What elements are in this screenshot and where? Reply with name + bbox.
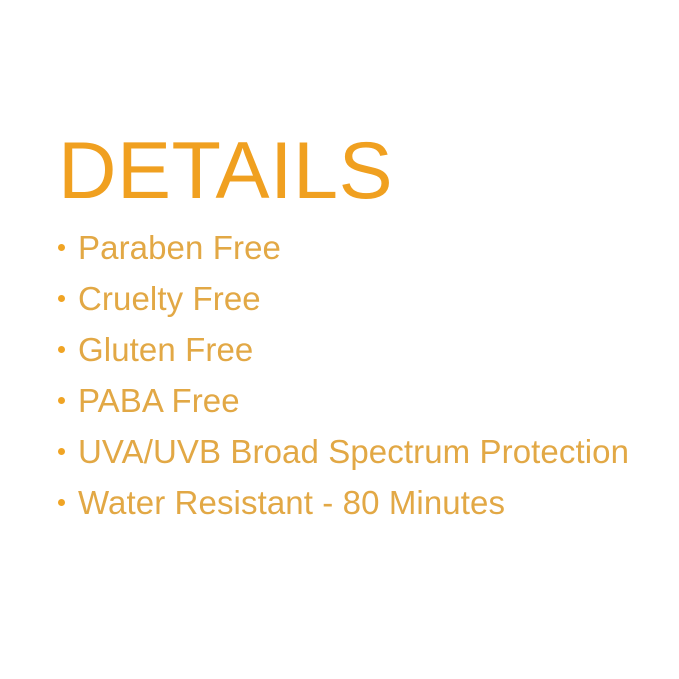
feature-label: Gluten Free: [78, 324, 253, 375]
list-item: PABA Free: [58, 375, 658, 426]
list-item: Cruelty Free: [58, 273, 658, 324]
list-item: Water Resistant - 80 Minutes: [58, 477, 658, 528]
feature-label: UVA/UVB Broad Spectrum Protection: [78, 426, 629, 477]
bullet-icon: [58, 295, 65, 302]
feature-label: PABA Free: [78, 375, 240, 426]
bullet-icon: [58, 448, 65, 455]
list-item: Gluten Free: [58, 324, 658, 375]
bullet-icon: [58, 244, 65, 251]
bullet-icon: [58, 397, 65, 404]
feature-list: Paraben Free Cruelty Free Gluten Free PA…: [58, 222, 658, 528]
bullet-icon: [58, 346, 65, 353]
page-title: DETAILS: [58, 128, 658, 214]
product-details-card: DETAILS Paraben Free Cruelty Free Gluten…: [0, 0, 679, 679]
list-item: Paraben Free: [58, 222, 658, 273]
list-item: UVA/UVB Broad Spectrum Protection: [58, 426, 658, 477]
feature-label: Paraben Free: [78, 222, 281, 273]
feature-label: Cruelty Free: [78, 273, 261, 324]
bullet-icon: [58, 499, 65, 506]
details-panel: DETAILS Paraben Free Cruelty Free Gluten…: [58, 128, 658, 528]
feature-label: Water Resistant - 80 Minutes: [78, 477, 505, 528]
